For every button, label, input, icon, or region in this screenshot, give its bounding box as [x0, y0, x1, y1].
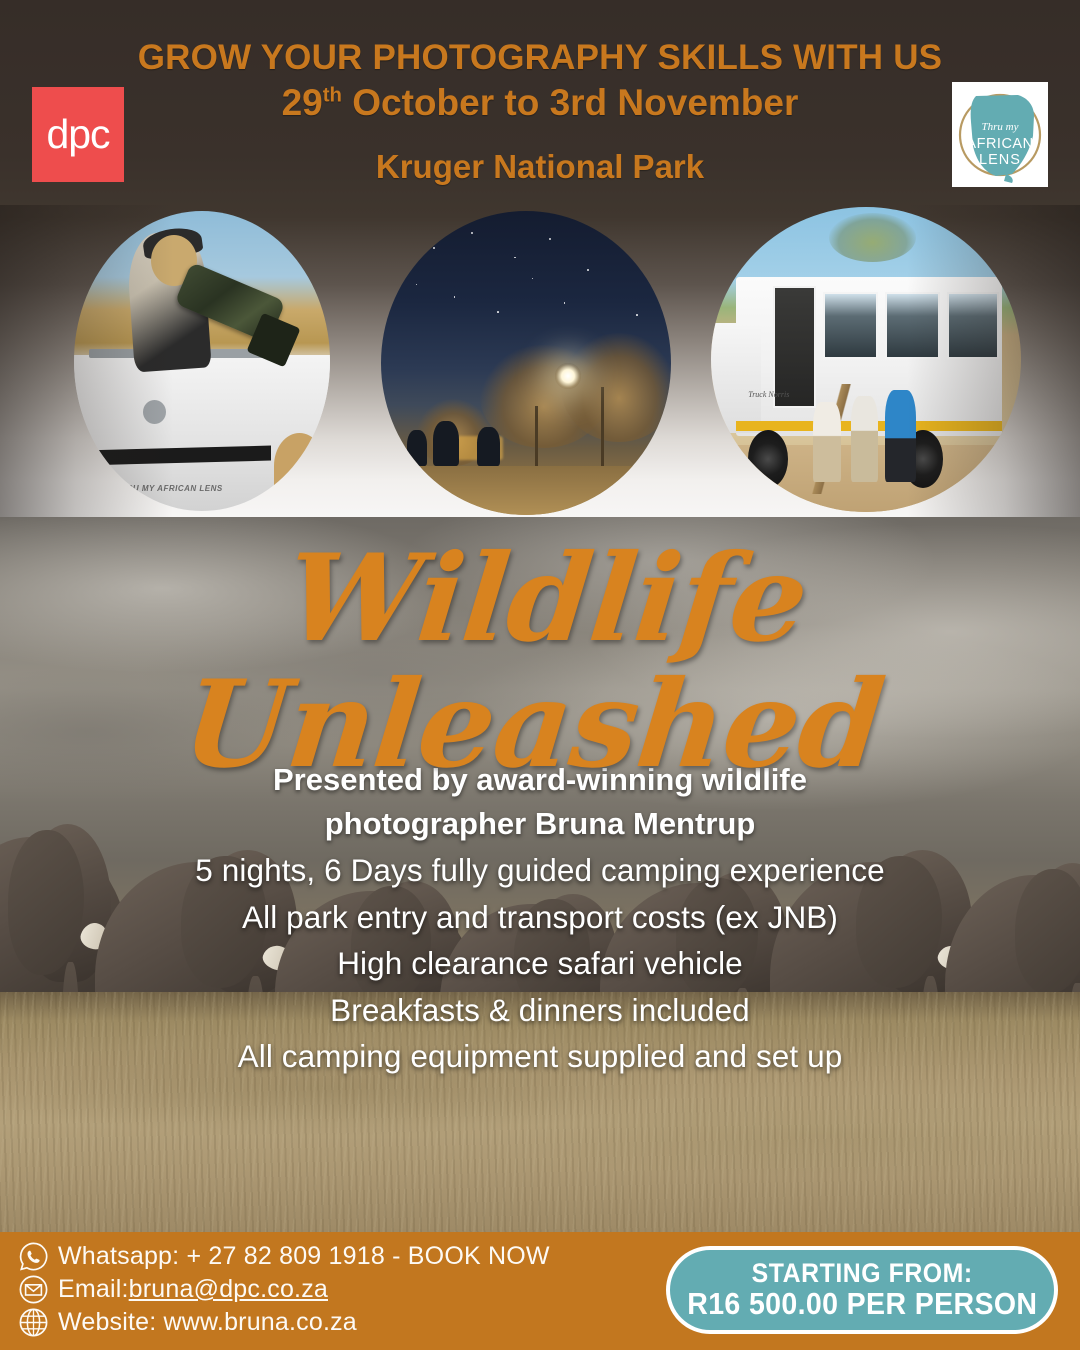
price-badge-line-2: R16 500.00 PER PERSON	[687, 1287, 1037, 1321]
contact-list: Whatsapp: + 27 82 809 1918 - BOOK NOW Em…	[18, 1240, 550, 1339]
price-badge[interactable]: STARTING FROM: R16 500.00 PER PERSON	[666, 1246, 1058, 1334]
email-label: Email:	[58, 1275, 129, 1304]
website-label: Website: www.bruna.co.za	[58, 1308, 357, 1337]
dpc-logo: dpc	[32, 87, 124, 182]
svg-text:LENS: LENS	[979, 152, 1021, 168]
header-section: GROW YOUR PHOTOGRAPHY SKILLS WITH US 29t…	[0, 0, 1080, 517]
dpc-logo-text: dpc	[46, 114, 109, 155]
date-ordinal-suffix: th	[323, 85, 342, 107]
price-badge-line-1: STARTING FROM:	[751, 1259, 972, 1287]
presenter-line-2: photographer Bruna Mentrup	[0, 802, 1080, 846]
inclusion-item: High clearance safari vehicle	[0, 940, 1080, 987]
inclusion-item: All camping equipment supplied and set u…	[0, 1033, 1080, 1080]
photo-night-camp	[381, 211, 671, 515]
inclusion-item: All park entry and transport costs (ex J…	[0, 894, 1080, 941]
poster: GROW YOUR PHOTOGRAPHY SKILLS WITH US 29t…	[0, 0, 1080, 1350]
website-icon	[18, 1307, 49, 1338]
contact-email[interactable]: Email: bruna@dpc.co.za	[18, 1273, 550, 1306]
location-line: Kruger National Park	[0, 148, 1080, 186]
svg-text:Thru my: Thru my	[982, 121, 1019, 133]
inclusion-item: Breakfasts & dinners included	[0, 987, 1080, 1034]
email-icon	[18, 1274, 49, 1305]
email-address-link[interactable]: bruna@dpc.co.za	[129, 1275, 328, 1304]
svg-text:AFRICAN: AFRICAN	[966, 136, 1033, 152]
headline: GROW YOUR PHOTOGRAPHY SKILLS WITH US	[0, 40, 1080, 76]
date-day: 29	[282, 82, 323, 123]
whatsapp-label: Whatsapp: + 27 82 809 1918 - BOOK NOW	[58, 1242, 550, 1271]
whatsapp-icon	[18, 1241, 49, 1272]
photo-3-caption: Truck Norris	[748, 390, 789, 399]
african-lens-logo: Thru my AFRICAN LENS	[952, 82, 1048, 187]
date-rest: October to 3rd November	[342, 82, 798, 123]
inclusions-list: 5 nights, 6 Days fully guided camping ex…	[0, 847, 1080, 1080]
inclusion-item: 5 nights, 6 Days fully guided camping ex…	[0, 847, 1080, 894]
photo-1-caption: THRU MY AFRICAN LENS	[115, 484, 263, 493]
africa-map-icon: Thru my AFRICAN LENS	[956, 86, 1044, 184]
contact-website[interactable]: Website: www.bruna.co.za	[18, 1306, 550, 1339]
photo-photographer-on-vehicle: THRU MY AFRICAN LENS	[74, 211, 330, 511]
poster-title: Wildlife Unleashed	[0, 536, 1080, 788]
contact-whatsapp[interactable]: Whatsapp: + 27 82 809 1918 - BOOK NOW	[18, 1240, 550, 1273]
photo-safari-truck: Truck Norris	[711, 207, 1021, 512]
date-line: 29th October to 3rd November	[0, 84, 1080, 123]
